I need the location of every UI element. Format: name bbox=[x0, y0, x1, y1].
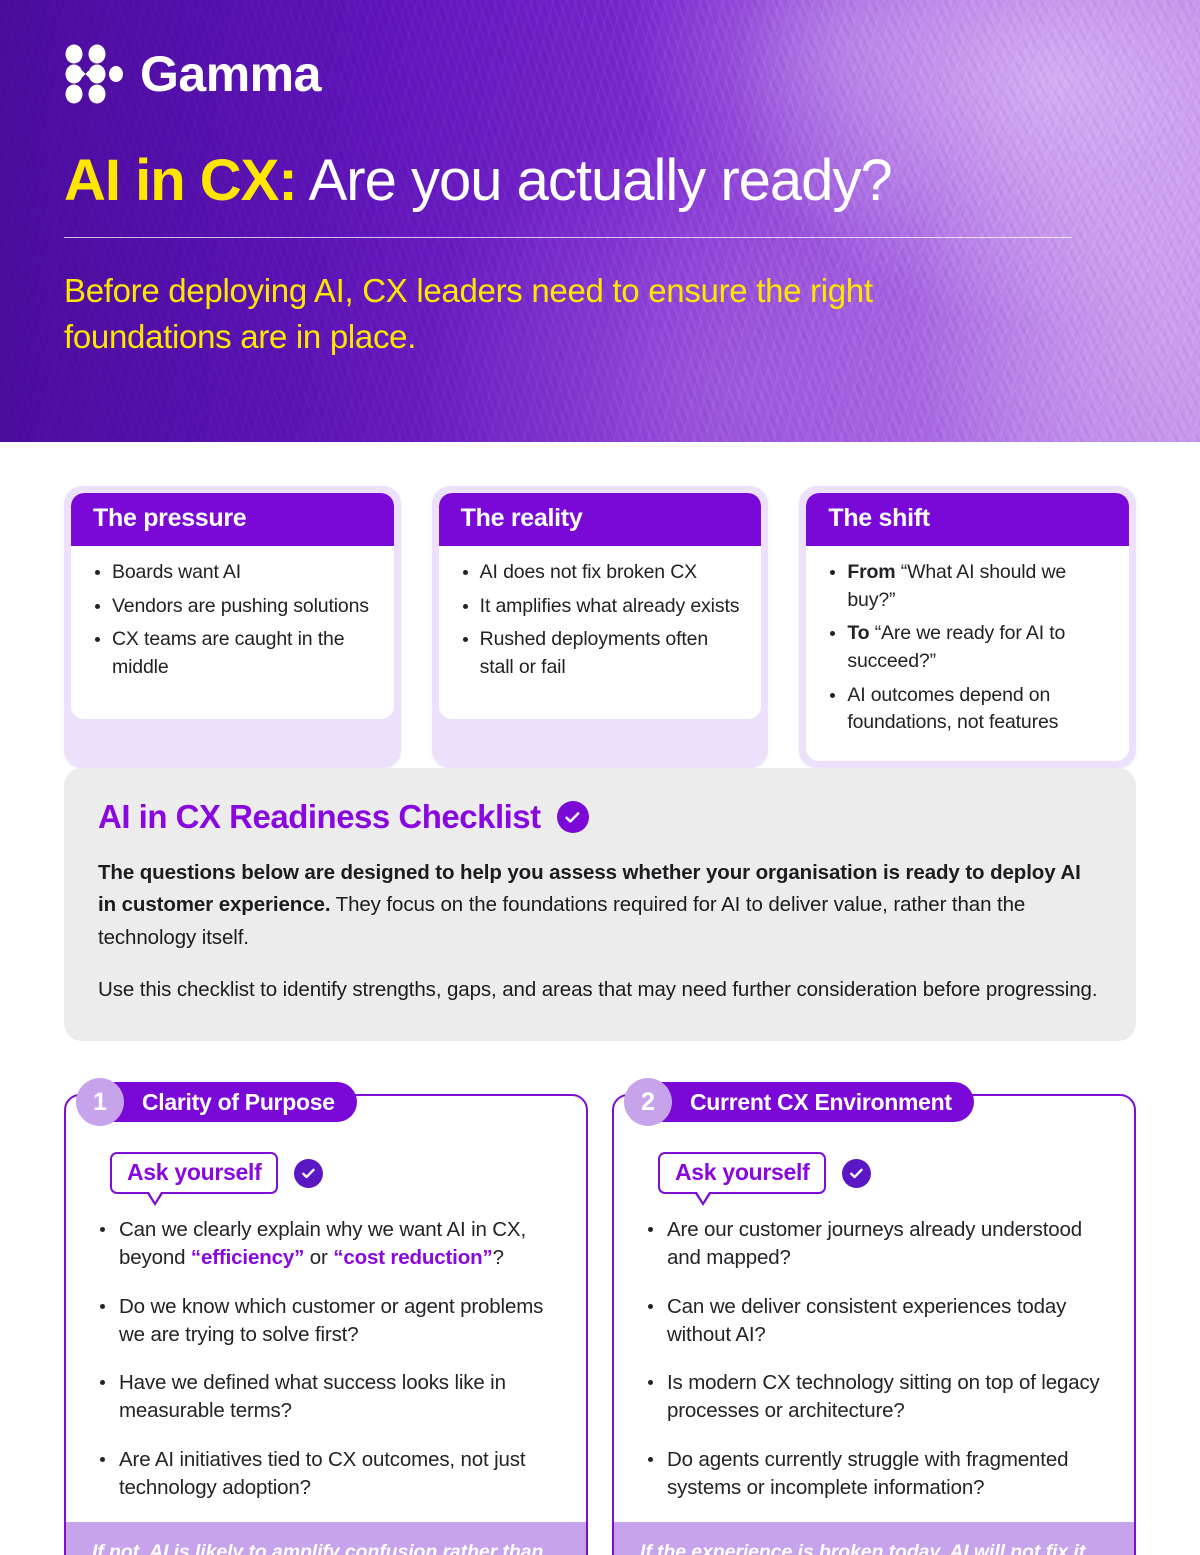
question-text: Is modern CX technology sitting on top o… bbox=[667, 1371, 1100, 1422]
summary-cards: The pressure Boards want AI Vendors are … bbox=[64, 486, 1136, 768]
card-the-shift: The shift From “What AI should we buy?” … bbox=[799, 486, 1136, 768]
bullet-text: CX teams are caught in the middle bbox=[112, 628, 344, 678]
card-heading: The reality bbox=[439, 493, 762, 546]
hero-divider bbox=[64, 237, 1072, 238]
card-heading: The pressure bbox=[71, 493, 394, 546]
section-current-cx-environment: 2 Current CX Environment Ask yourself Ar… bbox=[612, 1094, 1136, 1555]
list-item: Rushed deployments often stall or fail bbox=[457, 626, 744, 681]
question-text: Do we know which customer or agent probl… bbox=[119, 1295, 543, 1346]
ask-yourself-row: Ask yourself bbox=[658, 1152, 1134, 1194]
bullet-text: Boards want AI bbox=[112, 561, 241, 583]
section-footer-note: If the experience is broken today, AI wi… bbox=[614, 1522, 1134, 1555]
card-heading: The shift bbox=[806, 493, 1129, 546]
check-glyph bbox=[300, 1165, 317, 1182]
question-text: Are AI initiatives tied to CX outcomes, … bbox=[119, 1448, 525, 1499]
question-text: ? bbox=[493, 1246, 504, 1269]
brand-logo: Gamma bbox=[64, 0, 1136, 104]
list-item: CX teams are caught in the middle bbox=[89, 626, 376, 681]
question-list: Can we clearly explain why we want AI in… bbox=[66, 1194, 586, 1522]
brand-name: Gamma bbox=[140, 49, 321, 99]
list-item: AI does not fix broken CX bbox=[457, 559, 744, 587]
list-item: Can we deliver consistent experiences to… bbox=[640, 1293, 1108, 1350]
hero-banner: Gamma AI in CX: Are you actually ready? … bbox=[0, 0, 1200, 442]
list-item: Boards want AI bbox=[89, 559, 376, 587]
card-bullet-list: AI does not fix broken CX It amplifies w… bbox=[457, 559, 744, 682]
page-title: AI in CX: Are you actually ready? bbox=[64, 150, 1136, 213]
bullet-text: It amplifies what already exists bbox=[480, 595, 740, 617]
ask-yourself-bubble: Ask yourself bbox=[110, 1152, 278, 1194]
check-glyph bbox=[848, 1165, 865, 1182]
check-glyph bbox=[563, 808, 582, 827]
ask-yourself-row: Ask yourself bbox=[110, 1152, 586, 1194]
check-circle-icon bbox=[842, 1159, 871, 1188]
page-title-accent: AI in CX: bbox=[64, 148, 297, 213]
list-item: Have we defined what success looks like … bbox=[92, 1369, 560, 1426]
bullet-text: Rushed deployments often stall or fail bbox=[480, 628, 708, 678]
panel-paragraph-2: Use this checklist to identify strengths… bbox=[98, 974, 1102, 1006]
ask-yourself-bubble: Ask yourself bbox=[658, 1152, 826, 1194]
readiness-checklist-panel: AI in CX Readiness Checklist The questio… bbox=[64, 768, 1136, 1041]
list-item: Vendors are pushing solutions bbox=[89, 593, 376, 621]
check-circle-icon bbox=[294, 1159, 323, 1188]
list-item: To “Are we ready for AI to succeed?” bbox=[824, 620, 1111, 675]
card-bullet-list: Boards want AI Vendors are pushing solut… bbox=[89, 559, 376, 682]
bullet-text: AI outcomes depend on foundations, not f… bbox=[847, 684, 1058, 734]
section-title: Clarity of Purpose bbox=[142, 1089, 335, 1116]
question-text: Can we deliver consistent experiences to… bbox=[667, 1295, 1066, 1346]
card-the-reality: The reality AI does not fix broken CX It… bbox=[432, 486, 769, 768]
list-item: Is modern CX technology sitting on top o… bbox=[640, 1369, 1108, 1426]
section-header: 2 Current CX Environment bbox=[638, 1082, 974, 1122]
panel-title: AI in CX Readiness Checklist bbox=[98, 798, 541, 836]
question-text: or bbox=[304, 1246, 333, 1269]
section-header: 1 Clarity of Purpose bbox=[90, 1082, 357, 1122]
card-the-pressure: The pressure Boards want AI Vendors are … bbox=[64, 486, 401, 768]
question-text: Are our customer journeys already unders… bbox=[667, 1218, 1082, 1269]
list-item: Do we know which customer or agent probl… bbox=[92, 1293, 560, 1350]
question-text: Have we defined what success looks like … bbox=[119, 1371, 506, 1422]
question-highlight: “cost reduction” bbox=[333, 1246, 492, 1269]
bullet-text: Vendors are pushing solutions bbox=[112, 595, 369, 617]
section-footer-note: If not, AI is likely to amplify confusio… bbox=[66, 1522, 586, 1555]
readiness-sections: 1 Clarity of Purpose Ask yourself Can we… bbox=[64, 1094, 1136, 1555]
section-number-badge: 1 bbox=[76, 1078, 124, 1126]
list-item: Do agents currently struggle with fragme… bbox=[640, 1446, 1108, 1503]
section-number-badge: 2 bbox=[624, 1078, 672, 1126]
question-list: Are our customer journeys already unders… bbox=[614, 1194, 1134, 1522]
question-highlight: “efficiency” bbox=[191, 1246, 304, 1269]
infographic-page: Gamma AI in CX: Are you actually ready? … bbox=[0, 0, 1200, 1555]
card-bullet-list: From “What AI should we buy?” To “Are we… bbox=[824, 559, 1111, 737]
list-item: Are our customer journeys already unders… bbox=[640, 1216, 1108, 1273]
section-clarity-of-purpose: 1 Clarity of Purpose Ask yourself Can we… bbox=[64, 1094, 588, 1555]
bullet-lead: To bbox=[847, 622, 869, 644]
panel-paragraph-1: The questions below are designed to help… bbox=[98, 857, 1102, 954]
list-item: Can we clearly explain why we want AI in… bbox=[92, 1216, 560, 1273]
list-item: AI outcomes depend on foundations, not f… bbox=[824, 682, 1111, 737]
list-item: From “What AI should we buy?” bbox=[824, 559, 1111, 614]
list-item: Are AI initiatives tied to CX outcomes, … bbox=[92, 1446, 560, 1503]
bullet-lead: From bbox=[847, 561, 895, 583]
page-title-rest: Are you actually ready? bbox=[297, 148, 892, 213]
question-text: Do agents currently struggle with fragme… bbox=[667, 1448, 1068, 1499]
gamma-dots-logo-icon bbox=[64, 44, 124, 104]
list-item: It amplifies what already exists bbox=[457, 593, 744, 621]
check-circle-icon bbox=[557, 801, 589, 833]
bullet-text: “Are we ready for AI to succeed?” bbox=[847, 622, 1065, 672]
bullet-text: AI does not fix broken CX bbox=[480, 561, 697, 583]
section-title: Current CX Environment bbox=[690, 1089, 952, 1116]
hero-subtitle: Before deploying AI, CX leaders need to … bbox=[64, 268, 964, 362]
